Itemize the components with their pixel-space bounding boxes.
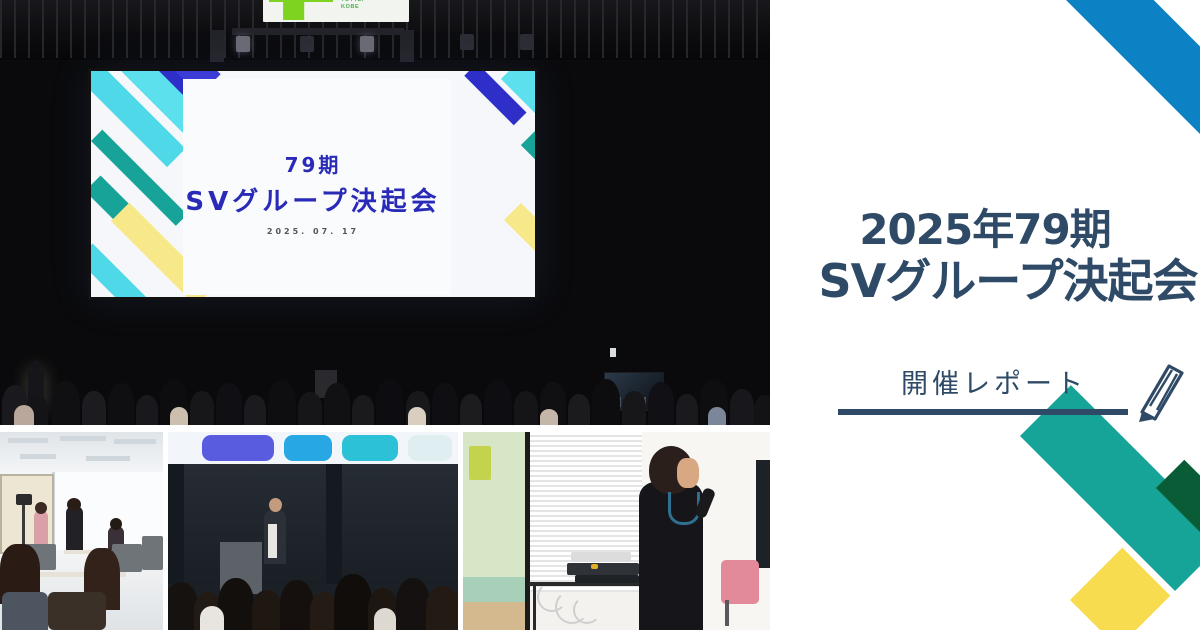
title-block: 2025年79期 SVグループ決起会 [770,206,1200,308]
projection-screen: 79期 SVグループ決起会 2025. 07. 17 [88,68,538,300]
event-report-banner: TOTTEI KOBE [0,0,1200,630]
stage-light [300,36,314,52]
slide-line2: SVグループ決起会 [91,181,535,218]
title-line1: 2025年79期 [770,206,1200,254]
venue-sign: TOTTEI KOBE [263,0,409,22]
stage-light [236,36,250,52]
truss-bar [210,30,224,62]
thumbnail-row [0,432,770,630]
subtitle-text: 開催レポート [860,362,1128,401]
thumbnail-office-meeting [0,432,163,630]
venue-sign-text: TOTTEI KOBE [341,0,364,11]
tottei-logo-icon [269,0,333,20]
subtitle-underline [838,409,1128,415]
title-line2: SVグループ決起会 [816,254,1200,308]
conference-hall-photo: TOTTEI KOBE [0,0,770,425]
truss-bar [232,28,404,35]
thumbnail-podium-speaker [168,432,458,630]
stage-light [360,36,374,52]
slide-line1: 79期 [91,149,535,178]
thumbnail-mic-speaker [463,432,770,630]
venue-sign-line2: KOBE [341,4,364,11]
slide-content: 79期 SVグループ決起会 2025. 07. 17 [91,71,535,297]
pencil-icon [1122,356,1188,426]
slide-date: 2025. 07. 17 [91,227,535,236]
audience-silhouettes [0,353,770,425]
subtitle-block: 開催レポート [860,362,1190,401]
stage-light [460,34,474,50]
stage-light [520,34,534,50]
photo-collage: TOTTEI KOBE [0,0,770,630]
title-panel: 2025年79期 SVグループ決起会 開催レポート [770,0,1200,630]
